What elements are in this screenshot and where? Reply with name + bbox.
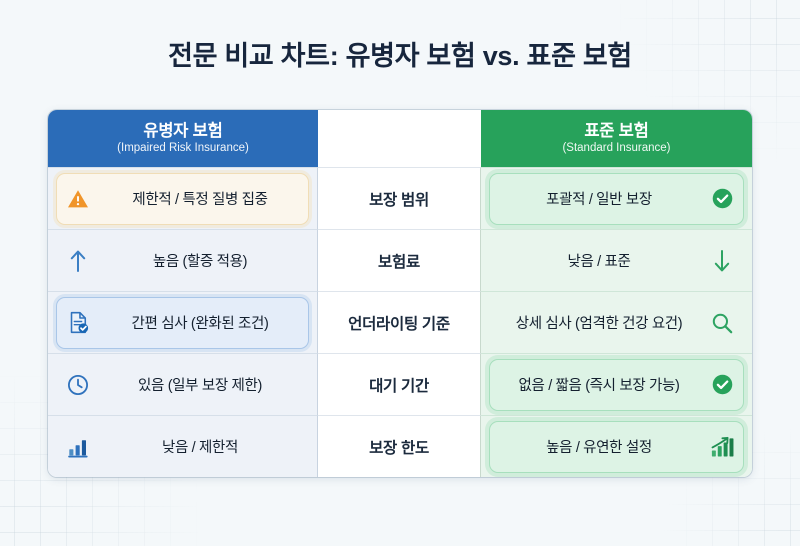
cell-standard: 낮음 / 표준 [481,229,752,291]
arrow-up-icon [65,248,91,274]
magnifier-icon [709,310,735,336]
standard-value: 없음 / 짧음 (즉시 보장 가능) [498,374,700,395]
header-standard-en: (Standard Insurance) [562,142,670,155]
header-impaired-ko: 유병자 보험 [117,122,249,140]
header-cell-standard: 표준 보험 (Standard Insurance) [481,110,752,167]
document-check-icon [65,310,91,336]
warning-triangle-icon [65,186,91,212]
check-circle-icon [709,186,735,212]
cell-criteria: 보험료 [318,229,481,291]
impaired-value: 있음 (일부 보장 제한) [100,374,300,395]
impaired-value: 높음 (할증 적용) [100,250,300,271]
header-cell-impaired: 유병자 보험 (Impaired Risk Insurance) [48,110,318,167]
comparison-table: 유병자 보험 (Impaired Risk Insurance) 표준 보험 (… [48,110,752,477]
clock-icon [65,372,91,398]
page-title: 전문 비교 차트: 유병자 보험 vs. 표준 보험 [0,34,800,73]
cell-criteria: 언더라이팅 기준 [318,291,481,353]
impaired-value: 간편 심사 (완화된 조건) [100,312,300,333]
bar-chart-icon [65,434,91,460]
criteria-label: 대기 기간 [318,374,480,396]
table-row: 높음 (할증 적용) 보험료 낮음 / 표준 [48,229,752,291]
standard-value: 상세 심사 (엄격한 건강 요건) [498,312,700,333]
table-row: 있음 (일부 보장 제한) 대기 기간 없음 / 짧음 (즉시 보장 가능) [48,353,752,415]
standard-value: 낮음 / 표준 [498,250,700,271]
standard-value: 높음 / 유연한 설정 [498,436,700,457]
header-cell-criteria [318,110,481,167]
table-row: 제한적 / 특정 질병 집중 보장 범위 포괄적 / 일반 보장 [48,167,752,229]
cell-standard: 높음 / 유연한 설정 [481,415,752,477]
cell-impaired: 있음 (일부 보장 제한) [48,353,318,415]
cell-criteria: 대기 기간 [318,353,481,415]
cell-criteria: 보장 한도 [318,415,481,477]
criteria-label: 보장 한도 [318,436,480,458]
header-standard-ko: 표준 보험 [562,122,670,140]
cell-standard: 포괄적 / 일반 보장 [481,167,752,229]
cell-standard: 상세 심사 (엄격한 건강 요건) [481,291,752,353]
arrow-down-icon [709,248,735,274]
table-row: 간편 심사 (완화된 조건) 언더라이팅 기준 상세 심사 (엄격한 건강 요건… [48,291,752,353]
criteria-label: 언더라이팅 기준 [318,312,480,334]
cell-impaired: 제한적 / 특정 질병 집중 [48,167,318,229]
impaired-value: 낮음 / 제한적 [100,436,300,457]
cell-impaired: 간편 심사 (완화된 조건) [48,291,318,353]
cell-standard: 없음 / 짧음 (즉시 보장 가능) [481,353,752,415]
check-circle-icon [709,372,735,398]
table-row: 낮음 / 제한적 보장 한도 높음 / 유연한 설정 [48,415,752,477]
cell-criteria: 보장 범위 [318,167,481,229]
cell-impaired: 낮음 / 제한적 [48,415,318,477]
standard-value: 포괄적 / 일반 보장 [498,188,700,209]
criteria-label: 보험료 [318,250,480,272]
header-impaired-en: (Impaired Risk Insurance) [117,142,249,155]
criteria-label: 보장 범위 [318,188,480,210]
cell-impaired: 높음 (할증 적용) [48,229,318,291]
growth-chart-icon [709,434,735,460]
table-header-row: 유병자 보험 (Impaired Risk Insurance) 표준 보험 (… [48,110,752,167]
impaired-value: 제한적 / 특정 질병 집중 [100,188,300,209]
